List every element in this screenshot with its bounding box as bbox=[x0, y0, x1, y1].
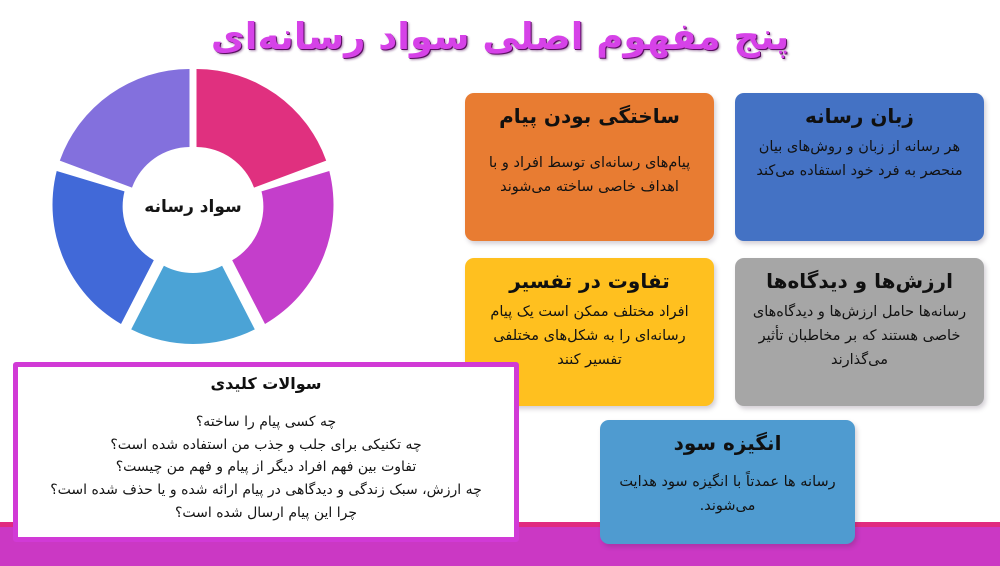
card-title-values-viewpoints: ارزش‌ها و دیدگاه‌ها bbox=[749, 268, 970, 295]
key-question-item: چه کسی پیام را ساخته؟ bbox=[34, 411, 498, 434]
concept-card-values-viewpoints[interactable]: ارزش‌ها و دیدگاه‌ها رسانه‌ها حامل ارزش‌ه… bbox=[735, 258, 984, 406]
page-title: پنج مفهوم اصلی سواد رسانه‌ای bbox=[0, 14, 1000, 60]
key-questions-heading: سوالات کلیدی bbox=[34, 374, 498, 393]
card-body-profit-motive: رسانه ها عمدتاً با انگیزه سود هدایت می‌ش… bbox=[614, 471, 841, 519]
card-title-media-language: زبان رسانه bbox=[749, 103, 970, 130]
key-questions-panel: سوالات کلیدی چه کسی پیام را ساخته؟ چه تک… bbox=[13, 362, 519, 542]
key-question-item: چرا این پیام ارسال شده است؟ bbox=[34, 502, 498, 525]
card-title-constructed-message: ساختگی بودن پیام bbox=[479, 103, 700, 130]
donut-segment-constructed-message[interactable] bbox=[197, 69, 327, 188]
donut-segments bbox=[53, 69, 334, 344]
donut-segment-interpretation[interactable] bbox=[53, 171, 154, 324]
key-question-item: تفاوت بین فهم افراد دیگر از پیام و فهم م… bbox=[34, 456, 498, 479]
key-question-item: چه تکنیکی برای جلب و جذب من استفاده شده … bbox=[34, 434, 498, 457]
key-question-item: چه ارزش، سبک زندگی و دیدگاهی در پیام ارا… bbox=[34, 479, 498, 502]
donut-svg bbox=[48, 62, 338, 352]
card-body-values-viewpoints: رسانه‌ها حامل ارزش‌ها و دیدگاه‌های خاصی … bbox=[749, 301, 970, 373]
donut-segment-media-language[interactable] bbox=[232, 171, 333, 324]
donut-segment-values-viewpoints[interactable] bbox=[60, 69, 190, 188]
donut-segment-profit-motive[interactable] bbox=[131, 266, 255, 344]
card-body-media-language: هر رسانه از زبان و روش‌های بیان منحصر به… bbox=[749, 136, 970, 184]
card-title-interpretation: تفاوت در تفسیر bbox=[479, 268, 700, 295]
card-title-profit-motive: انگیزه سود bbox=[614, 430, 841, 457]
media-literacy-donut-chart: سواد رسانه bbox=[48, 62, 338, 352]
concept-card-profit-motive[interactable]: انگیزه سود رسانه ها عمدتاً با انگیزه سود… bbox=[600, 420, 855, 544]
key-questions-list: چه کسی پیام را ساخته؟ چه تکنیکی برای جلب… bbox=[34, 411, 498, 524]
concept-card-media-language[interactable]: زبان رسانه هر رسانه از زبان و روش‌های بی… bbox=[735, 93, 984, 241]
concept-card-constructed-message[interactable]: ساختگی بودن پیام پیام‌های رسانه‌ای توسط … bbox=[465, 93, 714, 241]
card-body-constructed-message: پیام‌های رسانه‌ای توسط افراد و با اهداف … bbox=[479, 152, 700, 200]
infographic-poster: پنج مفهوم اصلی سواد رسانه‌ای سواد رسانه … bbox=[0, 0, 1000, 566]
